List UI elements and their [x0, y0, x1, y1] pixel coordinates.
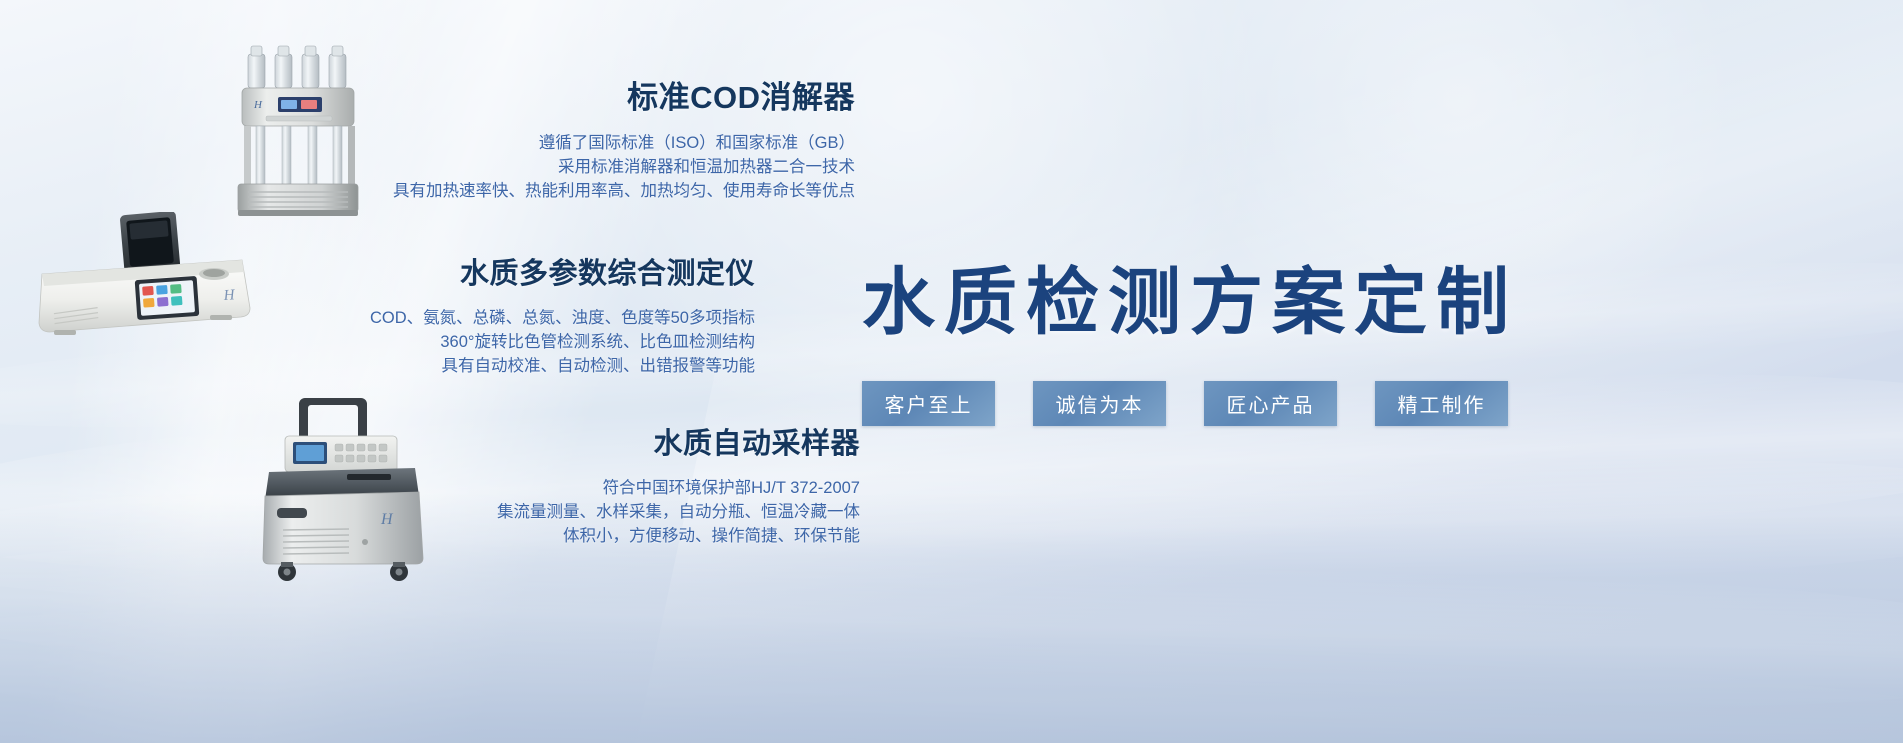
feature-line: 360°旋转比色管检测系统、比色皿检测结构	[140, 330, 755, 354]
product-block-multiparameter: 水质多参数综合测定仪 COD、氨氮、总磷、总氮、浊度、色度等50多项指标 360…	[140, 250, 755, 378]
badge-label: 客户至上	[885, 389, 973, 418]
product-features-multiparameter: COD、氨氮、总磷、总氮、浊度、色度等50多项指标 360°旋转比色管检测系统、…	[140, 306, 755, 378]
product-title-cod-digester: 标准COD消解器	[240, 72, 855, 117]
feature-line: COD、氨氮、总磷、总氮、浊度、色度等50多项指标	[140, 306, 755, 330]
badge-label: 诚信为本	[1056, 389, 1144, 418]
product-title-auto-sampler: 水质自动采样器	[300, 420, 860, 462]
feature-line: 采用标准消解器和恒温加热器二合一技术	[240, 155, 855, 179]
product-features-cod-digester: 遵循了国际标准（ISO）和国家标准（GB） 采用标准消解器和恒温加热器二合一技术…	[240, 131, 855, 203]
product-features-auto-sampler: 符合中国环境保护部HJ/T 372-2007 集流量测量、水样采集，自动分瓶、恒…	[300, 476, 860, 548]
water-quality-banner: H 标准COD消解器 遵循了国际标准（IS	[0, 0, 1903, 743]
hero-title: 水质检测方案定制	[855, 243, 1525, 349]
silk-ribbon-4	[0, 590, 1903, 743]
feature-line: 集流量测量、水样采集，自动分瓶、恒温冷藏一体	[300, 500, 860, 524]
product-block-auto-sampler: 水质自动采样器 符合中国环境保护部HJ/T 372-2007 集流量测量、水样采…	[300, 420, 860, 548]
product-block-cod-digester: 标准COD消解器 遵循了国际标准（ISO）和国家标准（GB） 采用标准消解器和恒…	[240, 72, 855, 203]
badge-label: 匠心产品	[1227, 389, 1315, 418]
badge-fine-manufacturing[interactable]: 精工制作	[1375, 381, 1508, 426]
badge-integrity[interactable]: 诚信为本	[1033, 381, 1166, 426]
badge-craftsmanship[interactable]: 匠心产品	[1204, 381, 1337, 426]
badge-label: 精工制作	[1398, 389, 1486, 418]
hero-heading-area: 水质检测方案定制	[855, 243, 1525, 349]
product-title-multiparameter: 水质多参数综合测定仪	[140, 250, 755, 292]
slogan-badge-group: 客户至上 诚信为本 匠心产品 精工制作	[862, 381, 1508, 426]
feature-line: 具有自动校准、自动检测、出错报警等功能	[140, 354, 755, 378]
feature-line: 具有加热速率快、热能利用率高、加热均匀、使用寿命长等优点	[240, 179, 855, 203]
badge-customer-first[interactable]: 客户至上	[862, 381, 995, 426]
feature-line: 遵循了国际标准（ISO）和国家标准（GB）	[240, 131, 855, 155]
feature-line: 体积小，方便移动、操作简捷、环保节能	[300, 524, 860, 548]
feature-line: 符合中国环境保护部HJ/T 372-2007	[300, 476, 860, 500]
